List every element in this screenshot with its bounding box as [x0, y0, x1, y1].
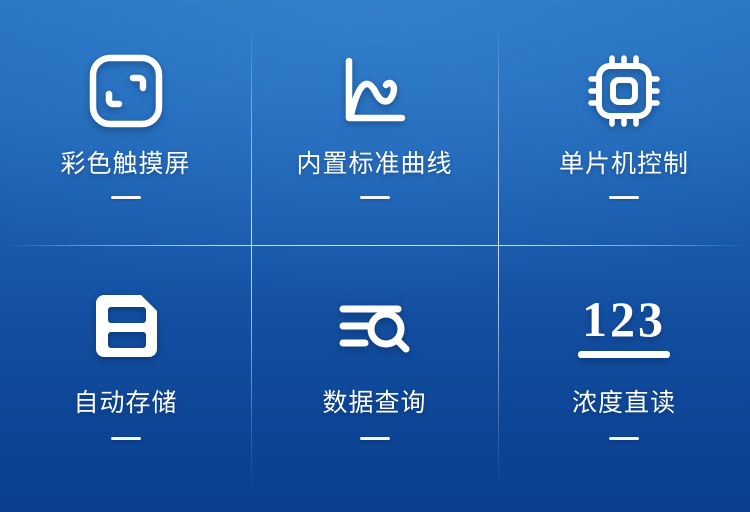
- numbers-123-text: 123: [582, 294, 666, 344]
- feature-label: 彩色触摸屏: [60, 152, 190, 177]
- feature-label: 数据查询: [322, 391, 426, 416]
- feature-cell-auto-storage[interactable]: 自动存储: [0, 245, 251, 512]
- feature-label: 浓度直读: [572, 391, 676, 416]
- floppy-save-icon: [87, 287, 165, 365]
- feature-label: 内置标准曲线: [296, 152, 452, 177]
- label-underline-dash: [609, 437, 639, 440]
- label-underline-dash: [111, 437, 141, 440]
- feature-cell-direct-concentration-readout[interactable]: 123 浓度直读: [498, 245, 750, 512]
- curve-chart-icon: [336, 52, 414, 130]
- feature-label: 单片机控制: [559, 152, 689, 177]
- list-search-icon: [334, 287, 416, 365]
- feature-cell-mcu-control[interactable]: 单片机控制: [498, 0, 750, 245]
- numbers-underline: [578, 351, 670, 358]
- cpu-chip-icon: [585, 52, 663, 130]
- label-underline-dash: [360, 196, 390, 199]
- feature-label: 自动存储: [73, 391, 177, 416]
- label-underline-dash: [360, 437, 390, 440]
- feature-cell-color-touchscreen[interactable]: 彩色触摸屏: [0, 0, 251, 245]
- numbers-123-icon: 123: [578, 287, 670, 365]
- feature-board: 彩色触摸屏 内置标准曲线: [0, 0, 750, 512]
- feature-grid: 彩色触摸屏 内置标准曲线: [0, 0, 750, 512]
- screen-resize-icon: [87, 52, 165, 130]
- label-underline-dash: [111, 196, 141, 199]
- label-underline-dash: [609, 196, 639, 199]
- feature-cell-builtin-standard-curve[interactable]: 内置标准曲线: [251, 0, 498, 245]
- feature-cell-data-query[interactable]: 数据查询: [251, 245, 498, 512]
